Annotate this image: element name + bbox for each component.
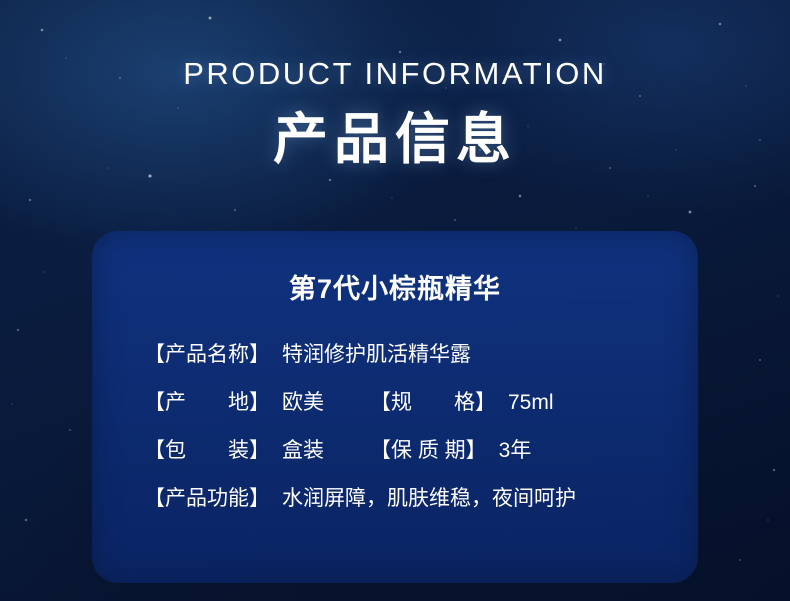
product-information-poster: PRODUCT INFORMATION 产品信息 第7代小棕瓶精华 【产品名称】… — [0, 0, 790, 601]
spec-row: 【产 地】 欧美 【规 格】 75ml — [144, 392, 668, 413]
spec-value: 特润修护肌活精华露 — [282, 344, 471, 365]
spec-list: 【产品名称】 特润修护肌活精华露 【产 地】 欧美 【规 格】 75ml 【包 … — [122, 344, 668, 509]
spec-value: 欧美 — [282, 392, 324, 413]
poster-header: PRODUCT INFORMATION 产品信息 — [0, 0, 790, 170]
card-title: 第7代小棕瓶精华 — [122, 231, 668, 306]
spec-label: 【包 装】 — [144, 440, 270, 461]
spec-row: 【包 装】 盒装 【保 质 期】 3年 — [144, 440, 668, 461]
spec-label: 【产 地】 — [144, 392, 270, 413]
spec-label: 【产品功能】 — [144, 488, 270, 509]
spec-value-secondary: 3年 — [499, 440, 532, 461]
spec-value: 水润屏障，肌肤维稳，夜间呵护 — [282, 488, 576, 509]
spec-label-secondary: 【保 质 期】 — [370, 440, 487, 461]
title-english: PRODUCT INFORMATION — [0, 58, 790, 89]
spec-value: 盒装 — [282, 440, 324, 461]
spec-row: 【产品功能】 水润屏障，肌肤维稳，夜间呵护 — [144, 488, 668, 509]
spec-cell-secondary: 【保 质 期】 3年 — [370, 440, 531, 461]
spec-label-secondary: 【规 格】 — [370, 392, 496, 413]
spec-label: 【产品名称】 — [144, 344, 270, 365]
spec-row: 【产品名称】 特润修护肌活精华露 — [144, 344, 668, 365]
spec-value-secondary: 75ml — [508, 392, 554, 413]
product-info-card: 第7代小棕瓶精华 【产品名称】 特润修护肌活精华露 【产 地】 欧美 【规 格】… — [92, 231, 698, 583]
spec-cell-secondary: 【规 格】 75ml — [370, 392, 554, 413]
title-chinese: 产品信息 — [0, 109, 790, 170]
